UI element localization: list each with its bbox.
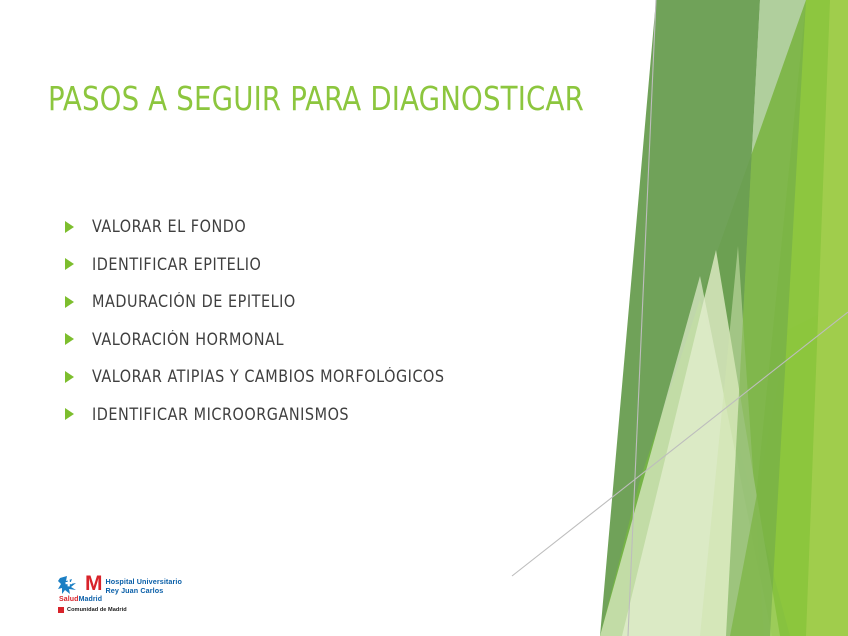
triangle-bullet-icon <box>62 296 92 308</box>
list-item[interactable]: VALORAR EL FONDO <box>62 208 622 246</box>
bg-shape-pale-sweep <box>622 250 780 636</box>
list-item-label: VALORAR ATIPIAS Y CAMBIOS MORFOLÓGICOS <box>92 367 445 386</box>
list-item[interactable]: MADURACIÓN DE EPITELIO <box>62 283 622 321</box>
logo-name-line-2: Rey Juan Carlos <box>106 586 183 595</box>
triangle-bullet-icon <box>62 221 92 233</box>
comunidad-de-madrid-mark: Comunidad de Madrid <box>58 607 208 613</box>
list-item-label: IDENTIFICAR EPITELIO <box>92 255 261 274</box>
list-item[interactable]: IDENTIFICAR MICROORGANISMOS <box>62 396 622 434</box>
bg-shape-green-overlap <box>726 0 806 636</box>
hairline-diagonal-top <box>628 0 656 636</box>
red-square-icon <box>58 607 64 613</box>
comunidad-label: Comunidad de Madrid <box>67 607 127 613</box>
logo-name-line-1: Hospital Universitario <box>106 577 183 586</box>
madrid-text: Madrid <box>79 596 103 603</box>
list-item-label: VALORACIÓN HORMONAL <box>92 330 284 349</box>
presentation-slide: PASOS A SEGUIR PARA DIAGNOSTICAR VALORAR… <box>0 0 848 636</box>
bg-shape-bright-wedge <box>660 0 848 636</box>
list-item[interactable]: VALORACIÓN HORMONAL <box>62 321 622 359</box>
bg-shape-mid-green <box>600 300 790 636</box>
bg-shape-pale-sliver <box>700 246 764 636</box>
salud-text: Salud <box>59 596 79 603</box>
list-item-label: IDENTIFICAR MICROORGANISMOS <box>92 405 349 424</box>
list-item[interactable]: IDENTIFICAR EPITELIO <box>62 246 622 284</box>
bg-shape-bright-bottom <box>730 300 848 636</box>
bg-shape-lime-right <box>742 0 848 636</box>
salud-madrid-wordmark: SaludMadrid <box>59 596 208 603</box>
list-item-label: MADURACIÓN DE EPITELIO <box>92 292 296 311</box>
bullet-list: VALORAR EL FONDO IDENTIFICAR EPITELIO MA… <box>62 208 622 433</box>
triangle-bullet-icon <box>62 408 92 420</box>
logo-monogram: M <box>85 574 103 593</box>
list-item-label: VALORAR EL FONDO <box>92 217 246 236</box>
bg-shape-dark-green <box>600 0 760 636</box>
hospital-emblem-icon <box>58 575 84 595</box>
triangle-bullet-icon <box>62 258 92 270</box>
bg-shape-lime-strip <box>806 0 848 636</box>
hospital-logo: M Hospital Universitario Rey Juan Carlos… <box>58 575 208 623</box>
triangle-bullet-icon <box>62 333 92 345</box>
bg-shape-very-pale <box>600 276 772 636</box>
page-title: PASOS A SEGUIR PARA DIAGNOSTICAR <box>48 78 606 120</box>
triangle-bullet-icon <box>62 371 92 383</box>
list-item[interactable]: VALORAR ATIPIAS Y CAMBIOS MORFOLÓGICOS <box>62 358 622 396</box>
